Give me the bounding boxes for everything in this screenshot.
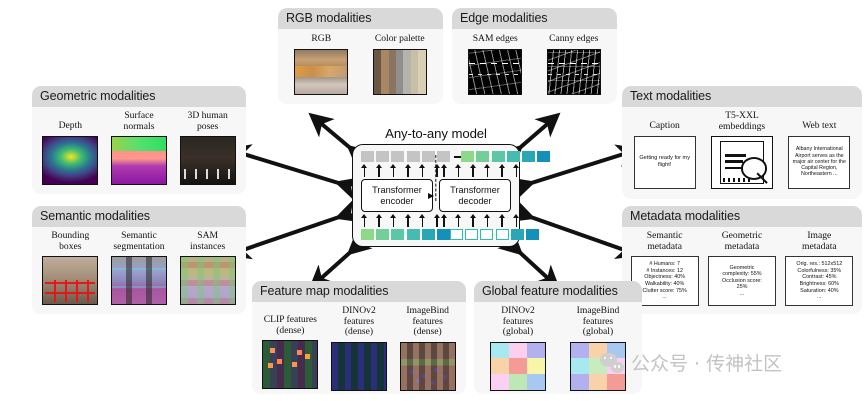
item-label: DINOv2 features (global) (501, 306, 535, 338)
decoder-input-tokens[interactable] (450, 229, 539, 240)
thumbnail-imagebind-features-dense[interactable] (400, 342, 456, 391)
modality-item-clip-features[interactable]: CLIP features (dense) (262, 306, 318, 389)
token (376, 151, 389, 162)
thumbnail-bounding-boxes[interactable] (42, 256, 98, 305)
up-arrow-icon (441, 214, 448, 227)
encoder-input-tokens[interactable] (361, 229, 450, 240)
modality-item-imagebind-features-global[interactable]: ImageBind features (global) (570, 306, 626, 391)
panel-title-rgb: RGB modalities (278, 8, 443, 29)
item-label: Surface normals (124, 111, 155, 132)
up-arrow-icon (405, 214, 412, 227)
item-label: 3D human poses (188, 111, 228, 132)
token (422, 229, 435, 240)
thumbnail-color-palette[interactable] (373, 49, 427, 95)
token (407, 229, 420, 240)
modality-item-color-palette[interactable]: Color palette (373, 34, 427, 95)
decoder-input-arrows (441, 214, 521, 227)
token (476, 151, 489, 162)
panel-rgb-modalities: RGB modalities RGB Color palette (278, 8, 443, 104)
encoder-decoder-divider (435, 155, 436, 201)
token (437, 229, 450, 240)
input-tokens-masked[interactable] (361, 151, 461, 162)
encoder-up-arrows (361, 164, 441, 177)
caption-textbox[interactable]: Getting ready for my flight! (634, 136, 696, 189)
item-label: Geometric metadata (722, 231, 763, 252)
model-title: Any-to-any model (352, 126, 520, 141)
token (437, 151, 450, 162)
item-label: RGB (311, 34, 331, 45)
item-label: ImageBind features (global) (577, 306, 620, 338)
any-to-any-model: Any-to-any model (352, 126, 520, 247)
t5-document-magnifier-icon[interactable] (711, 136, 773, 189)
item-label: Semantic segmentation (113, 231, 164, 252)
token (391, 151, 404, 162)
arrow-row-lower (361, 214, 511, 227)
item-label: Web text (802, 121, 836, 132)
thumbnail-sam-edges[interactable] (468, 49, 522, 95)
item-label: Color palette (375, 34, 425, 45)
up-arrow-icon (499, 214, 506, 227)
token (537, 151, 550, 162)
modality-item-t5-embeddings[interactable]: T5-XXL embeddings (711, 111, 773, 189)
token-masked (465, 229, 478, 240)
panel-global-feature-modalities: Global feature modalities DINOv2 feature… (474, 281, 642, 394)
up-arrow-icon (455, 214, 462, 227)
token (492, 151, 505, 162)
up-arrow-icon (499, 164, 506, 177)
modality-item-rgb[interactable]: RGB (294, 34, 348, 95)
up-arrow-icon (455, 164, 462, 177)
item-label: T5-XXL embeddings (719, 111, 765, 132)
modality-item-semantic-segmentation[interactable]: Semantic segmentation (111, 231, 167, 305)
item-label: Caption (649, 121, 679, 132)
target-tokens[interactable] (461, 151, 550, 162)
panel-title-semantic: Semantic modalities (32, 206, 246, 227)
up-arrow-icon (390, 214, 397, 227)
thumbnail-imagebind-features-global[interactable] (570, 342, 626, 391)
panel-title-metadata: Metadata modalities (622, 206, 862, 227)
token (511, 229, 524, 240)
modality-item-canny-edges[interactable]: Canny edges (547, 34, 601, 95)
item-label: ImageBind features (dense) (406, 306, 449, 338)
item-label: Bounding boxes (51, 231, 89, 252)
cross-attention-arrow-icon (428, 193, 434, 199)
up-arrow-icon (441, 164, 448, 177)
token-row-bottom (361, 229, 511, 240)
up-arrow-icon (434, 214, 441, 227)
item-label: CLIP features (dense) (264, 315, 317, 336)
modality-item-imagebind-features-dense[interactable]: ImageBind features (dense) (400, 306, 456, 391)
up-arrow-icon (361, 214, 368, 227)
token (361, 151, 374, 162)
thumbnail-canny-edges[interactable] (547, 49, 601, 95)
token (526, 229, 539, 240)
token-masked (480, 229, 493, 240)
modality-item-geometric-metadata[interactable]: Geometric metadata Geometric complexity:… (708, 231, 776, 306)
thumbnail-depth[interactable] (42, 136, 98, 185)
up-arrow-icon (376, 214, 383, 227)
web-text-textbox[interactable]: Albany International Airport serves as t… (788, 136, 850, 189)
watermark-text: 公众号 · 传神社区 (631, 349, 782, 376)
up-arrow-icon (470, 214, 477, 227)
up-arrow-icon (405, 164, 412, 177)
modality-item-image-metadata[interactable]: Image metadata Orig. res.: 512x512 Color… (785, 231, 853, 306)
modality-item-sam-instances[interactable]: SAM instances (180, 231, 236, 305)
item-label: Image metadata (802, 231, 837, 252)
up-arrow-icon (470, 164, 477, 177)
up-arrow-icon (513, 164, 520, 177)
model-box: Transformer encoder Transformer decoder (352, 144, 520, 247)
up-arrow-icon (484, 214, 491, 227)
token-masked (450, 229, 463, 240)
panel-title-feature-map: Feature map modalities (252, 281, 466, 302)
up-arrow-icon (361, 164, 368, 177)
item-label: SAM instances (190, 231, 225, 252)
item-label: Canny edges (549, 34, 598, 45)
up-arrow-icon (513, 214, 520, 227)
panel-geometric-modalities: Geometric modalities Depth Surface norma… (32, 86, 246, 194)
panel-edge-modalities: Edge modalities SAM edges Canny edges (452, 8, 617, 104)
panel-semantic-modalities: Semantic modalities Bounding boxes Seman… (32, 206, 246, 314)
transformer-encoder-box[interactable]: Transformer encoder (361, 179, 433, 212)
thumbnail-clip-features[interactable] (262, 340, 318, 389)
thumbnail-dinov2-features-dense[interactable] (331, 342, 387, 391)
token (522, 151, 535, 162)
mask-dash-icon (454, 156, 461, 158)
modality-item-depth[interactable]: Depth (42, 111, 98, 185)
transformer-decoder-box[interactable]: Transformer decoder (439, 179, 511, 212)
modality-item-surface-normals[interactable]: Surface normals (111, 111, 167, 185)
thumbnail-semantic-segmentation[interactable] (111, 256, 167, 305)
token (422, 151, 435, 162)
token (461, 151, 474, 162)
image-metadata-box[interactable]: Orig. res.: 512x512 Colorfulness: 35% Co… (785, 256, 853, 306)
decoder-up-arrows (441, 164, 521, 177)
token (507, 151, 520, 162)
token (407, 151, 420, 162)
panel-title-edge: Edge modalities (452, 8, 617, 29)
modality-item-web-text[interactable]: Web text Albany International Airport se… (788, 111, 850, 189)
modality-item-sam-edges[interactable]: SAM edges (468, 34, 522, 95)
thumbnail-sam-instances[interactable] (180, 256, 236, 305)
up-arrow-icon (419, 164, 426, 177)
token (361, 229, 374, 240)
geometric-metadata-box[interactable]: Geometric complexity: 55% Occlusion scor… (708, 256, 776, 306)
thumbnail-surface-normals[interactable] (111, 136, 167, 185)
modality-item-bounding-boxes[interactable]: Bounding boxes (42, 231, 98, 305)
modality-item-caption[interactable]: Caption Getting ready for my flight! (634, 111, 696, 189)
up-arrow-icon (390, 164, 397, 177)
panel-text-modalities: Text modalities Caption Getting ready fo… (622, 86, 862, 199)
panel-title-geometric: Geometric modalities (32, 86, 246, 107)
token (376, 229, 389, 240)
figure-canvas: RGB modalities RGB Color palette Edge mo… (0, 0, 867, 401)
panel-metadata-modalities: Metadata modalities Semantic metadata # … (622, 206, 862, 314)
up-arrow-icon (484, 164, 491, 177)
transformer-boxes: Transformer encoder Transformer decoder (361, 179, 511, 212)
item-label: Depth (59, 121, 82, 132)
up-arrow-icon (376, 164, 383, 177)
item-label: DINOv2 features (dense) (342, 306, 376, 338)
thumbnail-dinov2-features-global[interactable] (490, 342, 546, 391)
item-label: SAM edges (473, 34, 518, 45)
item-label: Semantic metadata (647, 231, 683, 252)
up-arrow-icon (419, 214, 426, 227)
modality-item-dinov2-features-dense[interactable]: DINOv2 features (dense) (331, 306, 387, 391)
token-masked (496, 229, 509, 240)
token (391, 229, 404, 240)
panel-feature-map-modalities: Feature map modalities CLIP features (de… (252, 281, 466, 394)
panel-title-global-feature: Global feature modalities (474, 281, 642, 302)
modality-item-3d-human-poses[interactable]: 3D human poses (180, 111, 236, 185)
thumbnail-rgb[interactable] (294, 49, 348, 95)
encoder-input-arrows (361, 214, 441, 227)
thumbnail-3d-human-poses[interactable] (180, 136, 236, 185)
modality-item-dinov2-features-global[interactable]: DINOv2 features (global) (490, 306, 546, 391)
panel-title-text: Text modalities (622, 86, 862, 107)
